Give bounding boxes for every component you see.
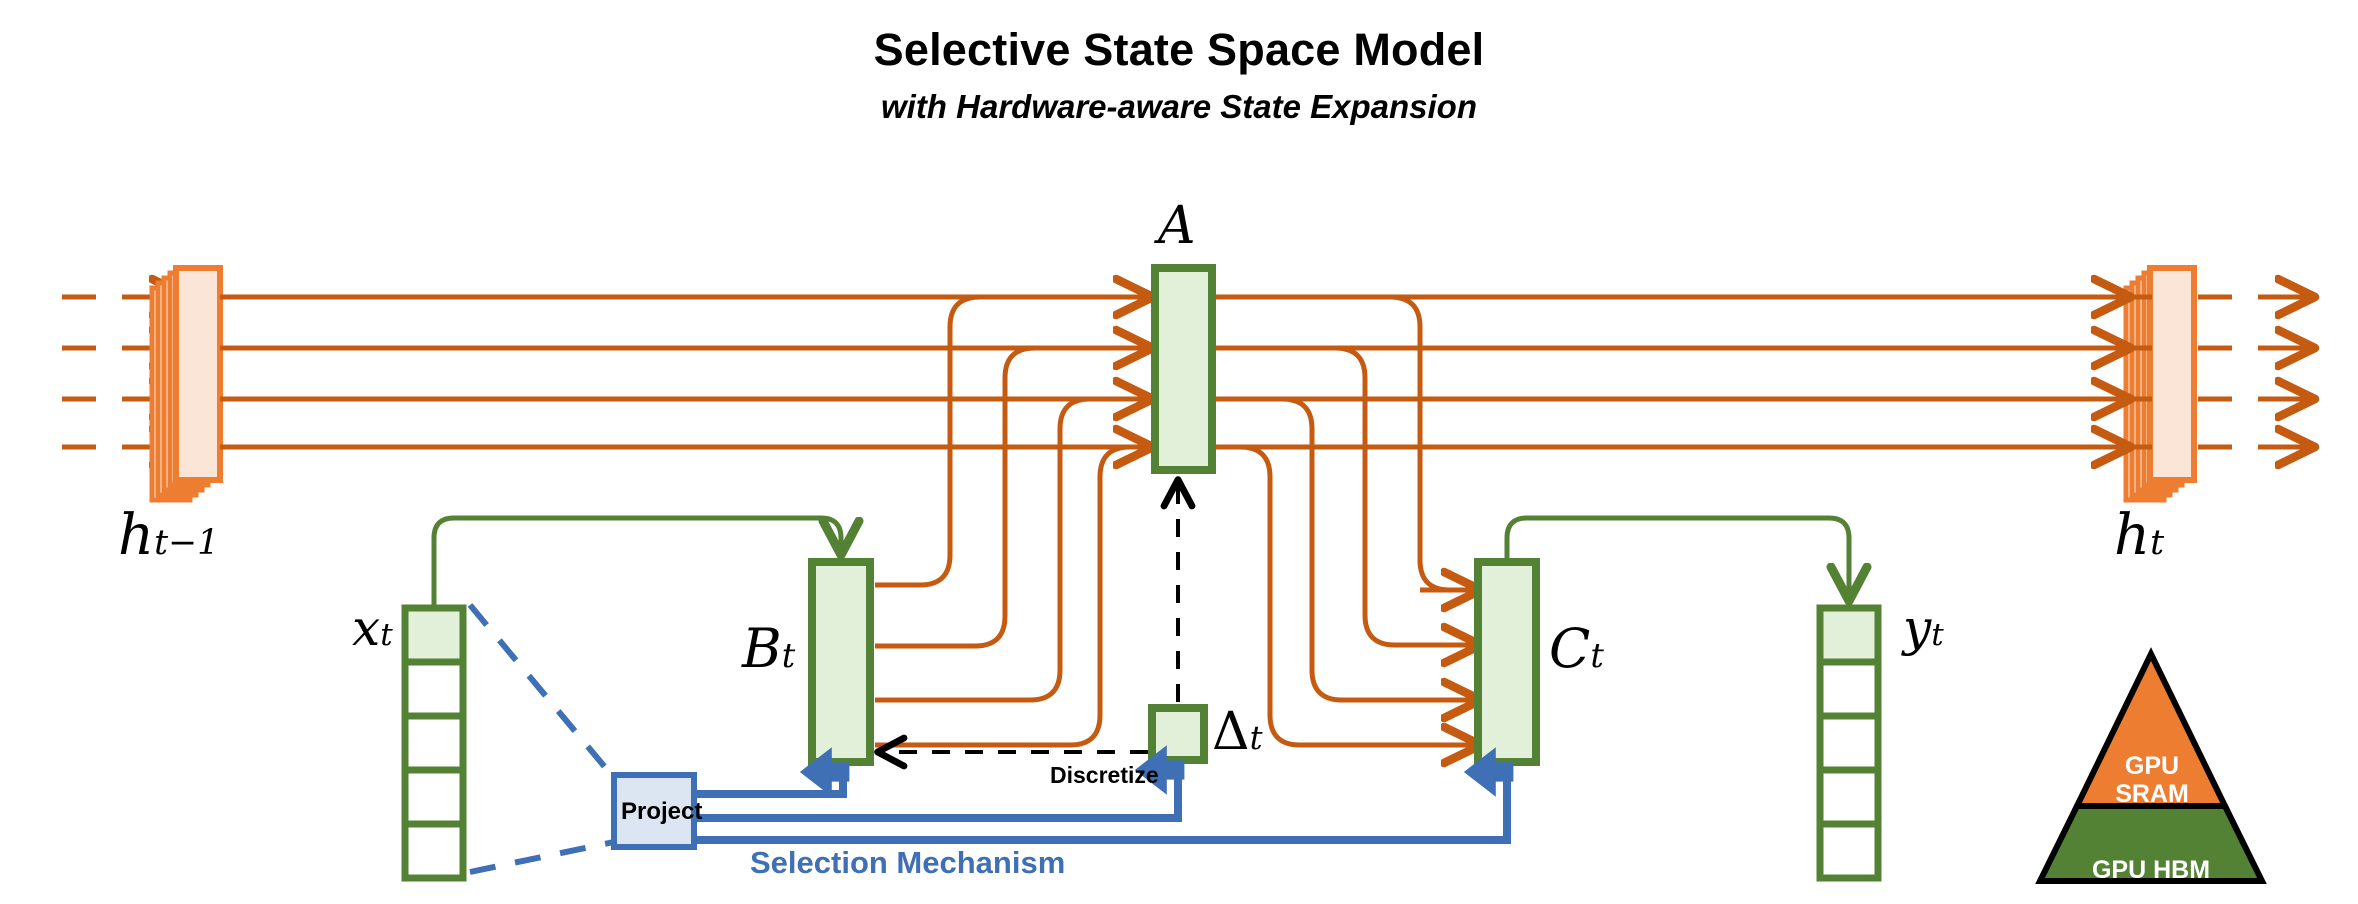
project-to-b-arrow bbox=[697, 772, 843, 794]
b-to-a-routing bbox=[875, 297, 1132, 745]
y-vector-column bbox=[1820, 608, 1878, 878]
matrix-b-block bbox=[812, 562, 870, 762]
delta-label: Δt bbox=[1212, 706, 1263, 758]
b-to-a-arrowheads bbox=[1100, 297, 1150, 447]
diagram-canvas: Selective State Space Model with Hardwar… bbox=[0, 0, 2358, 904]
matrix-c-block bbox=[1478, 562, 1536, 762]
matrix-b-label: Bt bbox=[742, 622, 795, 676]
diagram-svg bbox=[0, 0, 2358, 904]
project-label[interactable]: Project bbox=[621, 798, 702, 826]
c-to-y-path bbox=[1507, 518, 1849, 598]
state-output-dashed-lines bbox=[2198, 297, 2284, 447]
gpu-hbm-label: GPU HBM bbox=[2076, 828, 2226, 884]
discretize-label: Discretize bbox=[1050, 762, 1159, 789]
x-to-b-path bbox=[434, 518, 841, 608]
h-prev-block bbox=[152, 268, 220, 500]
state-to-hnext-arrowheads bbox=[2090, 297, 2128, 447]
gpu-sram-label: GPU SRAM bbox=[2104, 724, 2200, 808]
x-vector-label: xt bbox=[352, 603, 393, 653]
h-next-label: ht bbox=[2114, 508, 2164, 564]
a-to-c-arrowheads bbox=[1420, 590, 1478, 745]
matrix-c-label: Ct bbox=[1549, 622, 1604, 676]
selection-mechanism-label: Selection Mechanism bbox=[750, 845, 1065, 881]
h-prev-label: ht−1 bbox=[118, 508, 219, 564]
matrix-a-block bbox=[1155, 268, 1212, 470]
x-vector-column bbox=[405, 608, 463, 878]
a-to-c-routing bbox=[1212, 297, 1462, 745]
matrix-a-label: A bbox=[1158, 200, 1196, 252]
y-vector-label: yt bbox=[1903, 603, 1944, 653]
x-to-project-dashed bbox=[470, 605, 614, 872]
state-input-dashed-lines bbox=[62, 297, 160, 447]
h-next-block bbox=[2126, 268, 2194, 500]
state-output-arrowheads bbox=[2284, 297, 2312, 447]
delta-block bbox=[1152, 708, 1204, 760]
